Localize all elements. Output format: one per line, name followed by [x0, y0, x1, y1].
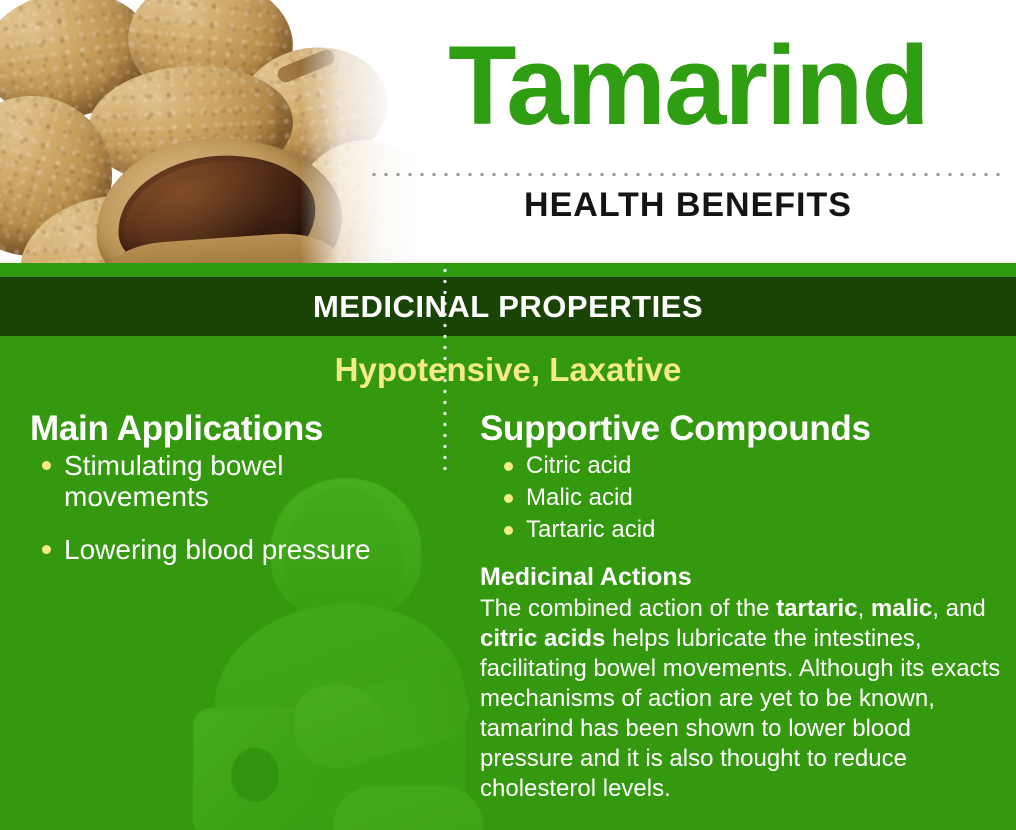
medicinal-actions-paragraph: The combined action of the tartaric, mal… [480, 594, 1010, 804]
page-title: Tamarind [360, 30, 1016, 142]
main-applications-column: Main Applications Stimulating bowel move… [0, 336, 445, 830]
paragraph-bold-citric-acids: citric acids [480, 625, 605, 652]
list-item-label: Stimulating bowel movements [64, 450, 283, 512]
bullet-dot-icon [42, 461, 51, 470]
list-item-label: Lowering blood pressure [64, 534, 371, 565]
supportive-compounds-column: Supportive Compounds Citric acid Malic a… [462, 336, 1016, 830]
bullet-dot-icon [504, 526, 513, 535]
paragraph-bold-tartaric: tartaric [776, 595, 857, 622]
bullet-dot-icon [504, 462, 513, 471]
bright-green-strip [0, 263, 1016, 277]
list-item: Stimulating bowel movements [30, 450, 404, 512]
paragraph-part: The combined action of the [480, 595, 776, 622]
dotted-divider [368, 172, 1008, 177]
infographic-root: Tamarind HEALTH BENEFITS MEDICINAL PROPE… [0, 0, 1016, 830]
list-item-label: Tartaric acid [526, 516, 655, 543]
header-section: Tamarind HEALTH BENEFITS [0, 0, 1016, 263]
paragraph-bold-malic: malic [871, 595, 932, 622]
bullet-dot-icon [504, 494, 513, 503]
columns-wrapper: Main Applications Stimulating bowel move… [0, 336, 1016, 830]
list-item: Citric acid [492, 450, 1016, 482]
paragraph-part: , and [932, 595, 985, 622]
list-item-label: Citric acid [526, 452, 631, 479]
list-item: Tartaric acid [492, 514, 1016, 546]
main-applications-list: Stimulating bowel movements Lowering blo… [0, 450, 445, 565]
medicinal-actions-heading: Medicinal Actions [480, 562, 1016, 592]
paragraph-part: , [858, 595, 871, 622]
list-item: Lowering blood pressure [30, 534, 404, 565]
bullet-dot-icon [42, 545, 51, 554]
supportive-compounds-list: Citric acid Malic acid Tartaric acid [462, 450, 1016, 546]
title-block: Tamarind HEALTH BENEFITS [360, 0, 1016, 263]
list-item-label: Malic acid [526, 484, 633, 511]
medicinal-properties-tagline: Hypotensive, Laxative [0, 348, 1016, 392]
medicinal-properties-label: MEDICINAL PROPERTIES [0, 287, 1016, 327]
page-subtitle: HEALTH BENEFITS [360, 188, 1016, 222]
list-item: Malic acid [492, 482, 1016, 514]
